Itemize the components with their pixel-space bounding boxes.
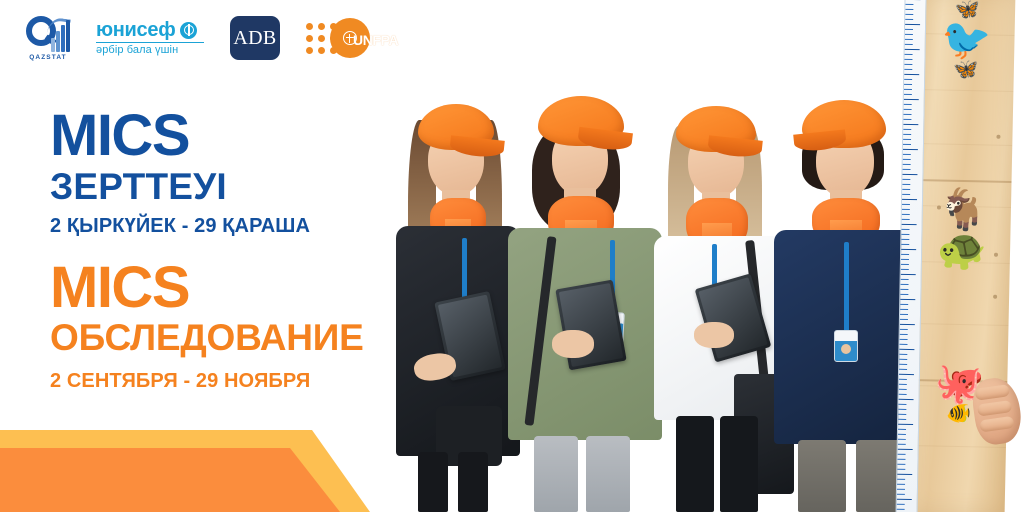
goat-illustration: 🐐 🐢 (914, 189, 1012, 271)
hand (694, 322, 734, 348)
leg (458, 452, 488, 512)
screw (993, 295, 997, 299)
person-2-female-green-jacket (506, 0, 666, 512)
leg (676, 416, 714, 512)
russian-dates: 2 СЕНТЯБРЯ - 29 НОЯБРЯ (50, 370, 364, 393)
leg (798, 440, 846, 512)
kazakh-brand: MICS (50, 108, 364, 164)
unfpa-wordmark: UNFPA (353, 32, 398, 48)
russian-subtitle: ОБСЛЕДОВАНИЕ (50, 317, 364, 358)
screw (996, 135, 1000, 139)
leg (418, 452, 448, 512)
survey-staff-photo-group (388, 0, 948, 512)
adb-logo: ADB (230, 16, 280, 60)
qazstat-wordmark: QAZSTAT (29, 54, 66, 61)
blue-lanyard (462, 238, 467, 300)
bird-illustration: 🦋 🐦 🦋 (918, 0, 1016, 81)
leg (534, 436, 578, 512)
leg (720, 416, 758, 512)
qazstat-logo: QAZSTAT (26, 16, 70, 61)
partner-logo-strip: QAZSTAT юнисеф әрбір бала үшін ADB UNFPA (26, 12, 370, 64)
unicef-divider (96, 42, 204, 43)
id-badge (834, 330, 858, 362)
kazakh-subtitle: ЗЕРТТЕУІ (50, 166, 364, 207)
russian-brand: MICS (50, 260, 364, 316)
unicef-tagline: әрбір бала үшін (96, 45, 178, 56)
decorative-band-dark (0, 448, 340, 512)
unicef-globe-icon (180, 22, 197, 39)
blue-lanyard (844, 242, 849, 338)
unicef-logo: юнисеф әрбір бала үшін (96, 20, 204, 56)
butterfly-icon: 🦋 (918, 59, 1014, 81)
hand (552, 330, 594, 358)
kazakh-dates: 2 ҚЫРКҮЙЕК - 29 ҚАРАША (50, 215, 364, 238)
turtle-icon: 🐢 (914, 229, 1011, 271)
mics-survey-banner: QAZSTAT юнисеф әрбір бала үшін ADB UNFPA (0, 0, 1024, 512)
leg (586, 436, 630, 512)
unfpa-logo: UNFPA (306, 18, 370, 58)
bird-icon: 🐦 (918, 19, 1015, 61)
unicef-name: юнисеф (96, 20, 175, 40)
goat-icon: 🐐 (915, 189, 1012, 231)
headline-copy: MICS ЗЕРТТЕУІ 2 ҚЫРКҮЙЕК - 29 ҚАРАША MIC… (50, 108, 364, 393)
q-with-bar-chart-icon (26, 16, 70, 52)
